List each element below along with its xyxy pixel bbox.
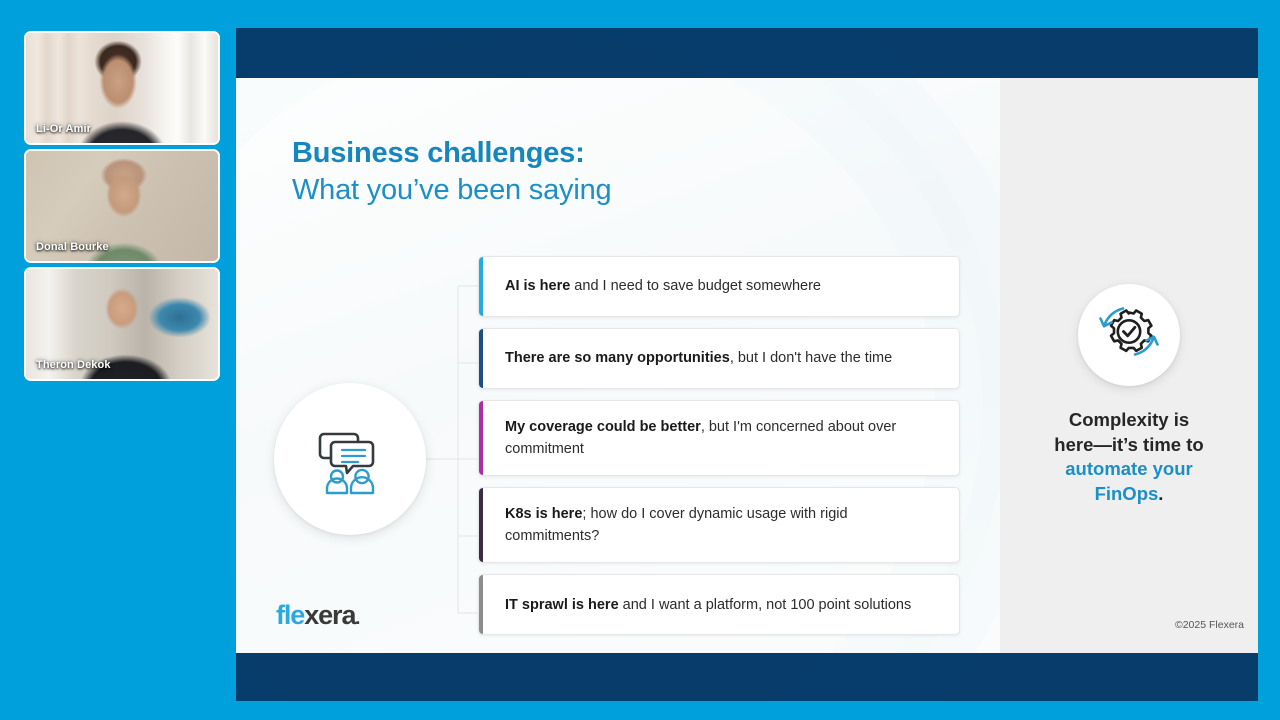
logo-text-part-a: fle [276, 600, 304, 630]
card-text: K8s is here; how do I cover dynamic usag… [505, 503, 941, 547]
caption-period: . [1158, 483, 1163, 504]
flexera-logo: flexera. [276, 600, 359, 631]
title-line-primary: Business challenges: [292, 136, 611, 171]
logo-trademark-dot: . [355, 608, 359, 628]
slide-bottom-band [236, 653, 1258, 701]
participant-name-label: Theron Dekok [36, 359, 111, 371]
title-line-secondary: What you’ve been saying [292, 171, 611, 210]
challenge-card[interactable]: IT sprawl is here and I want a platform,… [478, 574, 960, 635]
right-panel-content: Complexity is here—it’s time to automate… [1000, 78, 1258, 653]
card-lead-text: IT sprawl is here [505, 597, 619, 613]
card-text: My coverage could be better, but I'm con… [505, 416, 941, 460]
card-rest-text: and I want a platform, not 100 point sol… [619, 597, 912, 613]
caption-line-1: Complexity is [1069, 409, 1189, 430]
card-lead-text: There are so many opportunities [505, 350, 730, 366]
card-text: There are so many opportunities, but I d… [505, 347, 892, 369]
caption-line-3-highlight: automate your [1065, 458, 1192, 479]
card-accent-bar [479, 488, 483, 562]
challenge-card[interactable]: K8s is here; how do I cover dynamic usag… [478, 487, 960, 563]
participant-tile[interactable]: Li-Or Amir [24, 31, 220, 145]
card-accent-bar [479, 401, 483, 475]
card-text: AI is here and I need to save budget som… [505, 275, 821, 297]
card-lead-text: K8s is here [505, 506, 582, 522]
logo-text-part-b: xera [304, 600, 355, 630]
participant-video-rail: Li-Or Amir Donal Bourke Theron Dekok [0, 0, 236, 720]
page-title: Business challenges: What you’ve been sa… [292, 136, 611, 210]
participant-name-label: Donal Bourke [36, 241, 109, 253]
challenge-card[interactable]: There are so many opportunities, but I d… [478, 328, 960, 389]
speech-bubbles-people-icon [274, 383, 426, 535]
shared-slide: Business challenges: What you’ve been sa… [236, 28, 1258, 701]
card-text: IT sprawl is here and I want a platform,… [505, 594, 911, 616]
card-accent-bar [479, 329, 483, 388]
slide-top-band [236, 28, 1258, 78]
participant-tile[interactable]: Theron Dekok [24, 267, 220, 381]
card-lead-text: My coverage could be better [505, 419, 701, 435]
right-panel-caption: Complexity is here—it’s time to automate… [1014, 408, 1244, 506]
participant-tile[interactable]: Donal Bourke [24, 149, 220, 263]
challenge-card[interactable]: My coverage could be better, but I'm con… [478, 400, 960, 476]
copyright-notice: ©2025 Flexera [1175, 619, 1244, 631]
card-rest-text: , but I don't have the time [730, 350, 892, 366]
challenge-card[interactable]: AI is here and I need to save budget som… [478, 256, 960, 317]
gear-check-automation-icon [1078, 284, 1180, 386]
slide-body: Business challenges: What you’ve been sa… [236, 78, 1258, 653]
caption-line-2: here—it’s time to [1054, 434, 1203, 455]
caption-line-4-highlight: FinOps [1095, 483, 1159, 504]
card-lead-text: AI is here [505, 278, 570, 294]
challenge-card-list: AI is here and I need to save budget som… [478, 256, 960, 646]
card-rest-text: and I need to save budget somewhere [570, 278, 821, 294]
participant-name-label: Li-Or Amir [36, 123, 91, 135]
card-accent-bar [479, 575, 483, 634]
card-accent-bar [479, 257, 483, 316]
